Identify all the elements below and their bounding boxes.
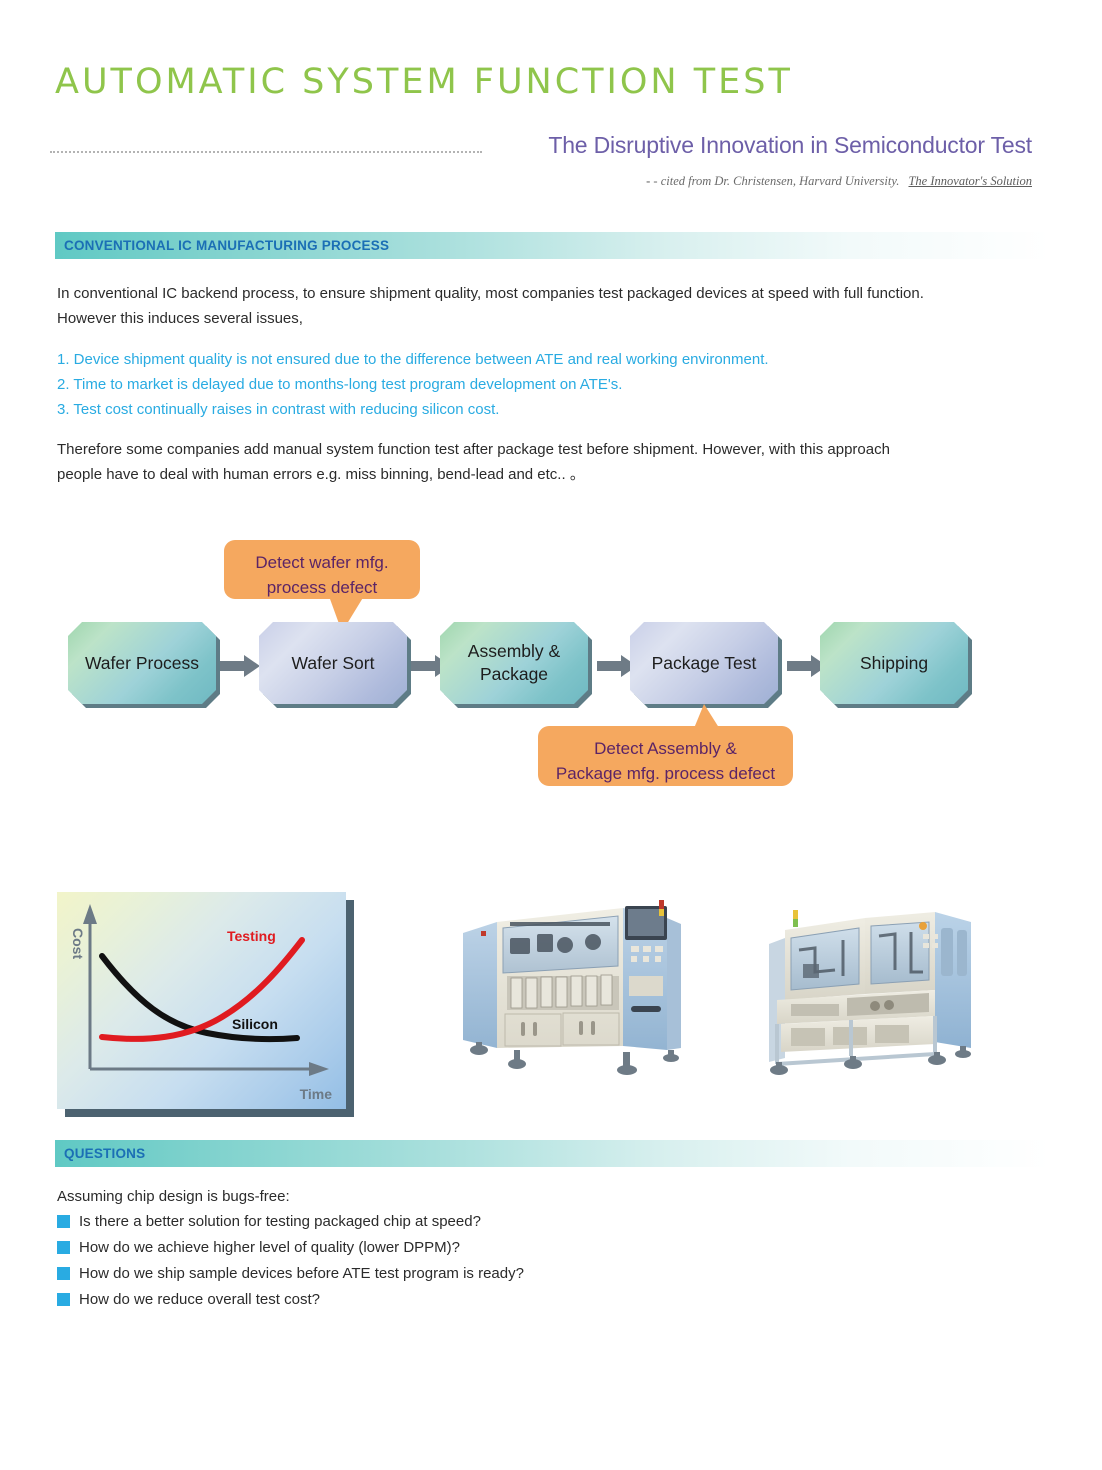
bullet-square-icon bbox=[57, 1293, 70, 1306]
callout-wafer-defect-line2: process defect bbox=[240, 575, 404, 600]
page-subtitle: The Disruptive Innovation in Semiconduct… bbox=[548, 132, 1032, 159]
conventional-intro-line2: However this induces several issues, bbox=[57, 306, 997, 331]
callout-assembly-defect: Detect Assembly & Package mfg. process d… bbox=[538, 726, 793, 786]
chart-plot-area: Cost Time Testing Silicon bbox=[57, 892, 346, 1109]
flow-node-package-test-label: Package Test bbox=[652, 652, 757, 675]
flow-node-shipping: Shipping bbox=[820, 622, 968, 704]
conventional-closing-line1: Therefore some companies add manual syst… bbox=[57, 437, 997, 462]
bullet-square-icon bbox=[57, 1267, 70, 1280]
chart-series-label-testing: Testing bbox=[227, 928, 276, 944]
flow-node-assembly-package-label: Assembly & Package bbox=[468, 640, 560, 686]
flow-node-wafer-sort: Wafer Sort bbox=[259, 622, 407, 704]
callout-wafer-defect: Detect wafer mfg. process defect bbox=[224, 540, 420, 599]
issue-item-3: 3. Test cost continually raises in contr… bbox=[57, 397, 997, 422]
citation-dash: - bbox=[646, 174, 650, 188]
callout-assembly-defect-line2: Package mfg. process defect bbox=[554, 761, 777, 786]
issue-item-2: 2. Time to market is delayed due to mont… bbox=[57, 372, 997, 397]
header-divider bbox=[50, 151, 482, 153]
question-item-1-label: Is there a better solution for testing p… bbox=[79, 1213, 481, 1230]
conventional-closing-line2: people have to deal with human errors e.… bbox=[57, 462, 997, 487]
chart-svg bbox=[57, 892, 346, 1109]
photo-test-handler-left bbox=[455, 898, 690, 1083]
document-page: AUTOMATIC SYSTEM FUNCTION TEST The Disru… bbox=[0, 0, 1102, 1470]
citation-book-title: The Innovator's Solution bbox=[908, 174, 1032, 188]
section-header-questions: QUESTIONS bbox=[55, 1140, 1050, 1167]
section-header-questions-label: QUESTIONS bbox=[64, 1146, 145, 1161]
issue-item-1: 1. Device shipment quality is not ensure… bbox=[57, 347, 997, 372]
flow-node-assembly-package: Assembly & Package bbox=[440, 622, 588, 704]
bullet-square-icon bbox=[57, 1241, 70, 1254]
question-item-3: How do we ship sample devices before ATE… bbox=[57, 1265, 524, 1282]
chart-y-axis-label: Cost bbox=[70, 928, 86, 959]
citation-line: - - cited from Dr. Christensen, Harvard … bbox=[646, 174, 1032, 189]
flow-node-shipping-label: Shipping bbox=[860, 652, 928, 675]
question-item-3-label: How do we ship sample devices before ATE… bbox=[79, 1265, 524, 1282]
cost-vs-time-chart: Cost Time Testing Silicon bbox=[57, 892, 354, 1117]
page-title: AUTOMATIC SYSTEM FUNCTION TEST bbox=[55, 62, 793, 102]
photo-system-test-machine-right-image bbox=[755, 898, 985, 1083]
question-item-1: Is there a better solution for testing p… bbox=[57, 1213, 481, 1230]
flow-node-assembly-line1: Assembly & bbox=[468, 640, 560, 663]
callout-assembly-defect-line1: Detect Assembly & bbox=[554, 736, 777, 761]
bullet-square-icon bbox=[57, 1215, 70, 1228]
section-header-conventional-label: CONVENTIONAL IC MANUFACTURING PROCESS bbox=[64, 238, 389, 253]
questions-intro: Assuming chip design is bugs-free: bbox=[57, 1188, 290, 1205]
flow-arrow-1-icon bbox=[220, 655, 260, 677]
flow-node-wafer-process-label: Wafer Process bbox=[85, 652, 199, 675]
question-item-4-label: How do we reduce overall test cost? bbox=[79, 1291, 320, 1308]
flow-node-wafer-process: Wafer Process bbox=[68, 622, 216, 704]
photo-system-test-machine-right bbox=[755, 898, 985, 1083]
flow-node-package-test: Package Test bbox=[630, 622, 778, 704]
flow-node-assembly-line2: Package bbox=[468, 663, 560, 686]
question-item-2-label: How do we achieve higher level of qualit… bbox=[79, 1239, 460, 1256]
section-header-conventional: CONVENTIONAL IC MANUFACTURING PROCESS bbox=[55, 232, 1050, 259]
flow-node-wafer-sort-label: Wafer Sort bbox=[292, 652, 375, 675]
photo-test-handler-left-image bbox=[455, 898, 690, 1083]
question-item-2: How do we achieve higher level of qualit… bbox=[57, 1239, 460, 1256]
conventional-intro-line1: In conventional IC backend process, to e… bbox=[57, 281, 997, 306]
issues-list: 1. Device shipment quality is not ensure… bbox=[57, 347, 997, 422]
citation-text: - cited from Dr. Christensen, Harvard Un… bbox=[653, 174, 899, 188]
callout-wafer-defect-line1: Detect wafer mfg. bbox=[240, 550, 404, 575]
chart-x-axis-label: Time bbox=[300, 1086, 332, 1102]
chart-series-label-silicon: Silicon bbox=[232, 1016, 278, 1032]
question-item-4: How do we reduce overall test cost? bbox=[57, 1291, 320, 1308]
